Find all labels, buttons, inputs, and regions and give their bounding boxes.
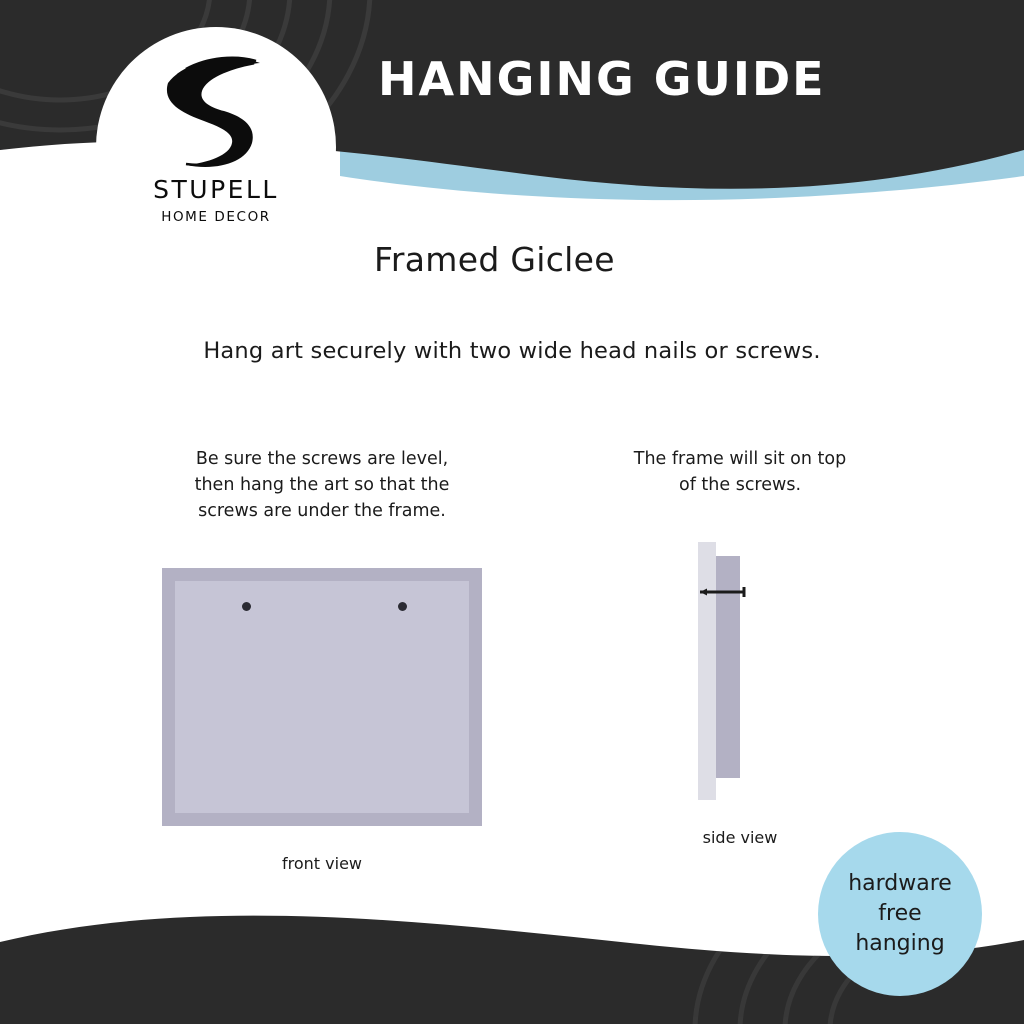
badge-line-3: hanging — [855, 929, 944, 959]
art-mat — [175, 581, 469, 813]
framed-art-front-diagram — [162, 568, 482, 826]
hardware-free-badge: hardware free hanging — [818, 832, 982, 996]
badge-line-1: hardware — [848, 869, 952, 899]
hanging-guide-page: STUPELL HOME DECOR HANGING GUIDE Framed … — [0, 0, 1024, 1024]
screw-dot-right — [398, 602, 407, 611]
badge-line-2: free — [878, 899, 921, 929]
front-view-caption: Be sure the screws are level, then hang … — [110, 446, 534, 524]
wall-profile — [698, 542, 716, 800]
stupell-swoosh-logo-icon — [156, 53, 276, 171]
side-view-caption: The frame will sit on top of the screws. — [560, 446, 920, 498]
page-title: HANGING GUIDE — [378, 52, 826, 106]
brand-tagline: HOME DECOR — [161, 209, 271, 225]
front-view-column: Be sure the screws are level, then hang … — [110, 446, 534, 873]
framed-art-side-diagram — [650, 542, 830, 800]
screw-icon — [698, 587, 758, 597]
front-view-label: front view — [110, 854, 534, 873]
brand-name: STUPELL — [153, 175, 279, 204]
side-view-column: The frame will sit on top of the screws.… — [560, 446, 920, 847]
product-title: Framed Giclee — [374, 240, 615, 279]
brand-logo-badge: STUPELL HOME DECOR — [96, 27, 336, 267]
instruction-lede: Hang art securely with two wide head nai… — [0, 338, 1024, 364]
screw-dot-left — [242, 602, 251, 611]
